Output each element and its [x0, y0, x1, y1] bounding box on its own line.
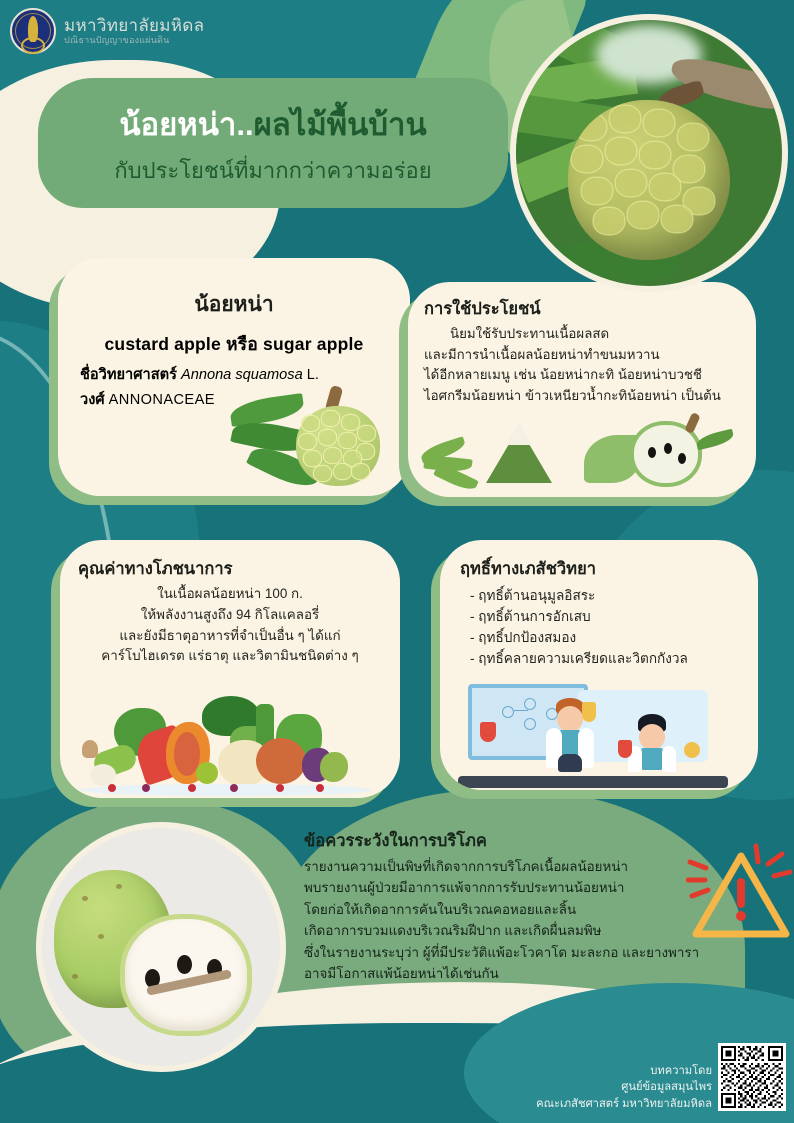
- card-pharmacology-heading: ฤทธิ์ทางเภสัชวิทยา: [460, 556, 740, 582]
- fruits-vegetables-illustration: [80, 692, 380, 798]
- card-uses-line-4: ไอศกรีมน้อยหน่า ข้าวเหนียวน้ำกะทิน้อยหน่…: [424, 386, 740, 407]
- footer-line-1: บทความโดย: [536, 1063, 712, 1080]
- card-uses: การใช้ประโยชน์ นิยมใช้รับประทานเนื้อผลสด…: [408, 282, 756, 497]
- laboratory-scientists-illustration: [458, 680, 728, 790]
- card-warning-line-3: โดยก่อให้เกิดอาการคันในบริเวณคอหอยและลิ้…: [304, 899, 736, 920]
- list-item: - ฤทธิ์คลายความเครียดและวิตกกังวล: [460, 648, 740, 669]
- card-plant-name-english: custard apple หรือ sugar apple: [80, 330, 388, 358]
- custard-apple-illustration: [234, 372, 404, 496]
- card-warning-line-1: รายงานความเป็นพิษที่เกิดจากการบริโภคเนื้…: [304, 856, 736, 877]
- pharmacology-list: - ฤทธิ์ต้านอนุมูลอิสระ - ฤทธิ์ต้านการอัก…: [460, 585, 740, 669]
- title-banner: น้อยหน่า..ผลไม้พื้นบ้าน กับประโยชน์ที่มา…: [38, 78, 508, 208]
- card-nutrition-line-3: และยังมีธาตุอาหารที่จำเป็นอื่น ๆ ได้แก่: [78, 626, 382, 647]
- card-warning-line-5: ซึ่งในรายงานระบุว่า ผู้ที่มีประวัติแพ้อะ…: [304, 942, 736, 963]
- footer-line-2: ศูนย์ข้อมูลสมุนไพร: [536, 1079, 712, 1096]
- qr-code-icon[interactable]: [718, 1043, 786, 1111]
- card-nutrition-line-1: ในเนื้อผลน้อยหน่า 100 ก.: [78, 584, 382, 605]
- mahidol-seal-icon: [10, 8, 56, 54]
- title-part-white: น้อยหน่า..: [119, 107, 253, 142]
- card-warning-line-2: พบรายงานผู้ป่วยมีอาการแพ้จากการรับประทาน…: [304, 877, 736, 898]
- thai-dessert-illustration: [414, 409, 734, 497]
- footer-credits: บทความโดย ศูนย์ข้อมูลสมุนไพร คณะเภสัชศาส…: [536, 1063, 712, 1113]
- halved-fruit-shape: [120, 914, 252, 1036]
- hero-fruit-photo: [510, 14, 788, 292]
- card-uses-heading: การใช้ประโยชน์: [424, 296, 740, 322]
- university-logo: มหาวิทยาลัยมหิดล ปณิธานปัญญาของแผ่นดิน: [10, 8, 204, 54]
- org-name: มหาวิทยาลัยมหิดล: [64, 17, 204, 35]
- card-warning: ข้อควรระวังในการบริโภค รายงานความเป็นพิษ…: [300, 822, 740, 1018]
- card-uses-line-1: นิยมใช้รับประทานเนื้อผลสด: [424, 324, 740, 345]
- card-nutrition-line-4: คาร์โบไฮเดรต แร่ธาตุ และวิตามินชนิดต่าง …: [78, 646, 382, 667]
- list-item: - ฤทธิ์ต้านการอักเสบ: [460, 606, 740, 627]
- card-nutrition-heading: คุณค่าทางโภชนาการ: [78, 556, 382, 582]
- page-subtitle: กับประโยชน์ที่มากกว่าความอร่อย: [114, 153, 431, 188]
- list-item: - ฤทธิ์ปกป้องสมอง: [460, 627, 740, 648]
- org-tagline: ปณิธานปัญญาของแผ่นดิน: [64, 36, 204, 45]
- warning-triangle-icon: [686, 838, 792, 950]
- card-plant-name-heading: น้อยหน่า: [80, 288, 388, 321]
- card-plant-name: น้อยหน่า custard apple หรือ sugar apple …: [58, 258, 410, 496]
- list-item: - ฤทธิ์ต้านอนุมูลอิสระ: [460, 585, 740, 606]
- scientist-figure-1: [542, 698, 598, 772]
- card-warning-line-6: อาจมีโอกาสแพ้น้อยหน่าได้เช่นกัน: [304, 963, 736, 984]
- footer-line-3: คณะเภสัชศาสตร์ มหาวิทยาลัยมหิดล: [536, 1096, 712, 1113]
- custard-apple-shape: [568, 100, 730, 260]
- card-warning-line-4: เกิดอาการบวมแดงบริเวณริมฝีปาก และเกิดผื่…: [304, 920, 736, 941]
- card-warning-heading: ข้อควรระวังในการบริโภค: [304, 828, 736, 854]
- card-nutrition-line-2: ให้พลังงานสูงถึง 94 กิโลแคลอรี่: [78, 605, 382, 626]
- page-title: น้อยหน่า..ผลไม้พื้นบ้าน: [119, 99, 426, 149]
- card-pharmacology: ฤทธิ์ทางเภสัชวิทยา - ฤทธิ์ต้านอนุมูลอิสร…: [440, 540, 758, 790]
- scientist-figure-2: [626, 714, 678, 772]
- card-uses-line-2: และมีการนำเนื้อผลน้อยหน่าทำขนมหวาน: [424, 345, 740, 366]
- cut-fruit-photo: [36, 822, 286, 1072]
- title-part-green: ผลไม้พื้นบ้าน: [254, 107, 427, 142]
- card-nutrition: คุณค่าทางโภชนาการ ในเนื้อผลน้อยหน่า 100 …: [60, 540, 400, 798]
- card-uses-line-3: ได้อีกหลายเมนู เช่น น้อยหน่ากะทิ น้อยหน่…: [424, 365, 740, 386]
